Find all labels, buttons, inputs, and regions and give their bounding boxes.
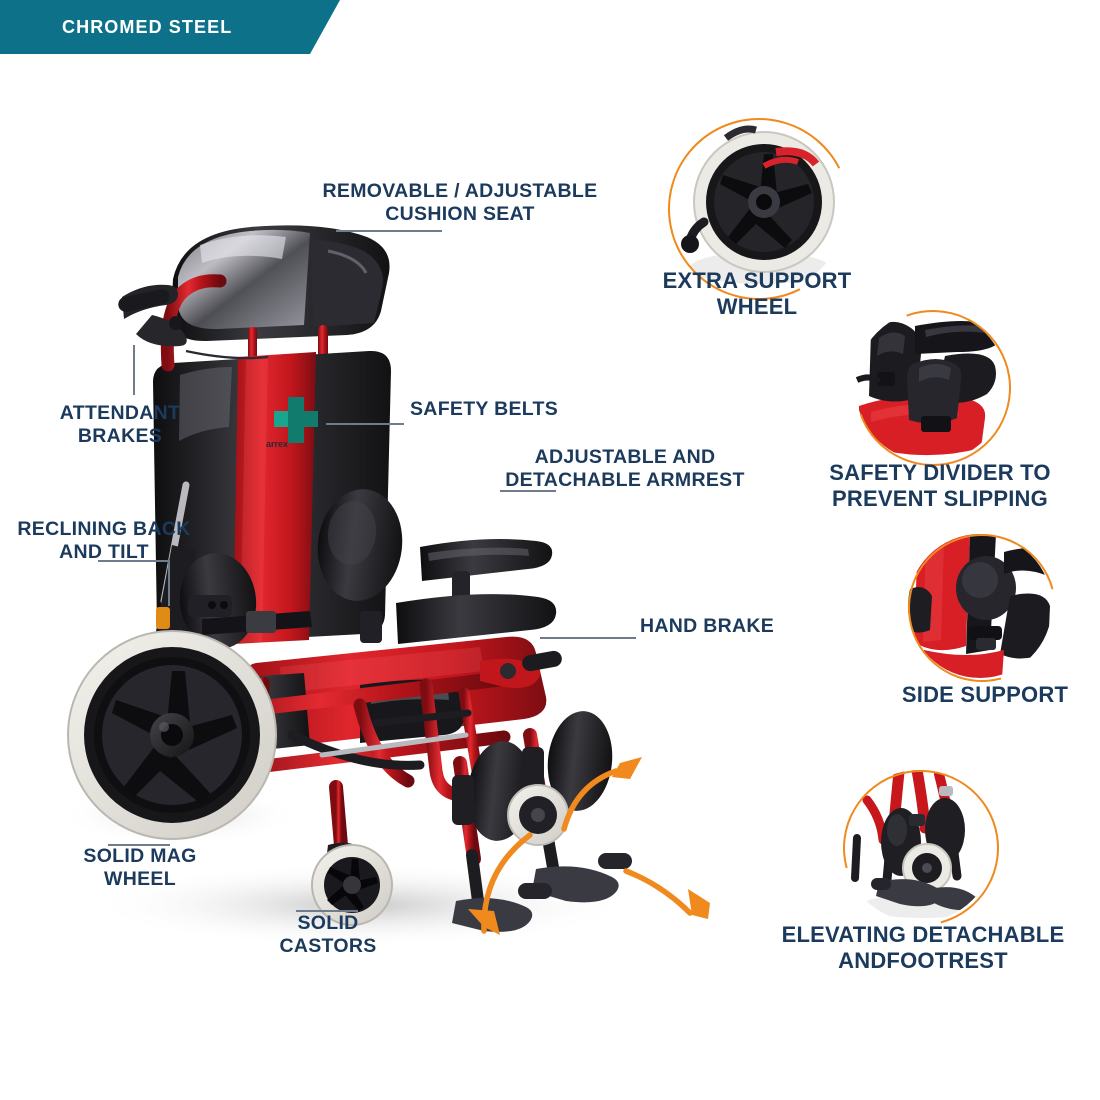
castor-wheel-part: [312, 787, 392, 925]
leader-attendant-brakes: [133, 345, 135, 395]
leader-reclining-back: [168, 560, 170, 606]
callout-safety-divider-image: [855, 310, 1007, 462]
svg-text:arrex: arrex: [266, 439, 288, 449]
armrest-part: [396, 539, 556, 644]
caption-safety-divider: SAFETY DIVIDER TO PREVENT SLIPPING: [790, 460, 1090, 513]
header-ribbon: CHROMED STEEL: [0, 0, 340, 54]
leader-safety-belts: [326, 423, 404, 425]
label-safety-belts: SAFETY BELTS: [410, 398, 630, 421]
label-hand-brake: HAND BRAKE: [640, 615, 860, 638]
caption-side-support: SIDE SUPPORT: [850, 682, 1100, 708]
attendant-brake-lever-icon: [136, 315, 187, 346]
leader-hand-brake: [540, 637, 636, 639]
secondary-castor-icon: [508, 785, 568, 845]
header-badge-label: CHROMED STEEL: [62, 17, 232, 38]
mag-wheel-part: [68, 631, 276, 839]
label-solid-castors: SOLID CASTORS: [230, 912, 426, 958]
label-reclining-back-and-tilt: RECLINING BACK AND TILT: [0, 518, 208, 564]
callout-side-support-image: [908, 534, 1052, 678]
callout-elevating-footrest-image: [843, 770, 995, 922]
label-adjustable-detachable-armrest: ADJUSTABLE AND DETACHABLE ARMREST: [500, 446, 750, 492]
label-solid-mag-wheel: SOLID MAG WHEEL: [42, 845, 238, 891]
label-removable-cushion-seat: REMOVABLE / ADJUSTABLE CUSHION SEAT: [300, 180, 620, 226]
caption-elevating-footrest: ELEVATING DETACHABLE ANDFOOTREST: [768, 922, 1078, 975]
label-attendant-brakes: ATTENDANT BRAKES: [20, 402, 220, 448]
leader-removable-cushion-seat: [336, 230, 442, 232]
